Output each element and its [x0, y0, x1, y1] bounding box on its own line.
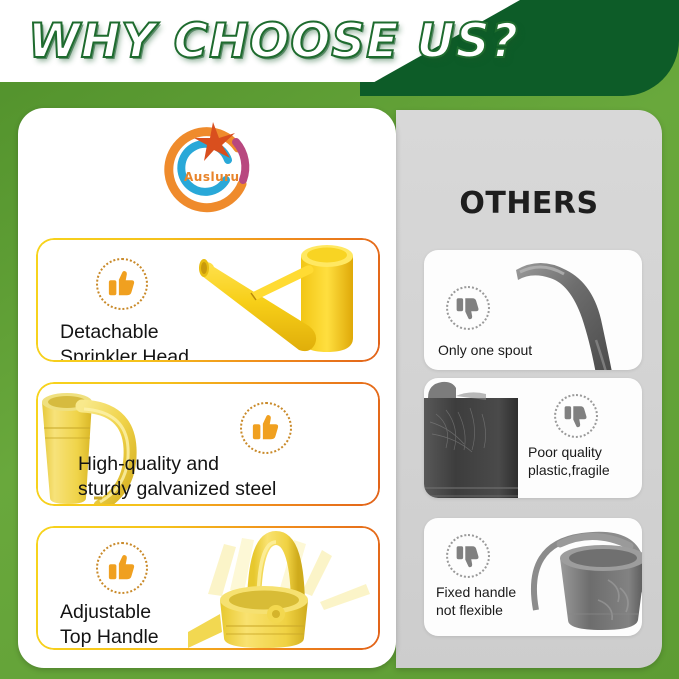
- thumbs-up-icon: [251, 413, 281, 443]
- page-title: WHY CHOOSE US?: [28, 14, 519, 69]
- feature-card-inner: Detachable Sprinkler Head: [38, 240, 378, 360]
- feature-label: High-quality and sturdy galvanized steel: [78, 452, 276, 502]
- thumbs-up-badge: [96, 542, 148, 594]
- thumbs-up-icon: [107, 553, 137, 583]
- gray-watering-can-fixed-handle-image: [516, 518, 642, 636]
- thumbs-up-icon: [107, 269, 137, 299]
- feature-label: Adjustable Top Handle: [60, 600, 159, 648]
- feature-card-adjustable-top-handle: Adjustable Top Handle: [36, 526, 380, 650]
- feature-card-inner: High-quality and sturdy galvanized steel: [38, 384, 378, 504]
- others-card-poor-quality-plastic: Poor quality plastic,fragile: [424, 378, 642, 498]
- logo-mark-icon: [150, 118, 270, 218]
- feature-card-inner: Adjustable Top Handle: [38, 528, 378, 648]
- others-label: Poor quality plastic,fragile: [528, 444, 610, 479]
- thumbs-down-badge: [446, 286, 490, 330]
- ausluru-logo: Ausluru: [150, 118, 270, 218]
- others-card-fixed-handle: Fixed handle not flexible: [424, 518, 642, 636]
- others-label: Only one spout: [438, 342, 532, 360]
- feature-card-galvanized-steel: High-quality and sturdy galvanized steel: [36, 382, 380, 506]
- thumbs-down-badge: [446, 534, 490, 578]
- gray-scratched-plastic-can-image: [424, 378, 518, 498]
- thumbs-up-badge: [96, 258, 148, 310]
- thumbs-down-icon: [455, 543, 481, 569]
- logo-wordmark: Ausluru: [184, 170, 240, 184]
- thumbs-down-icon: [455, 295, 481, 321]
- thumbs-down-badge: [554, 394, 598, 438]
- others-title: OTHERS: [396, 186, 662, 221]
- others-card-only-one-spout: Only one spout: [424, 250, 642, 370]
- yellow-watering-can-top-handle-image: [184, 528, 378, 648]
- feature-label: Detachable Sprinkler Head: [60, 320, 189, 360]
- header-banner-content: WHY CHOOSE US?: [0, 0, 520, 82]
- yellow-watering-can-spout-image: [188, 240, 378, 360]
- others-label: Fixed handle not flexible: [436, 584, 516, 619]
- thumbs-up-badge: [240, 402, 292, 454]
- thumbs-down-icon: [563, 403, 589, 429]
- feature-card-detachable-sprinkler-head: Detachable Sprinkler Head: [36, 238, 380, 362]
